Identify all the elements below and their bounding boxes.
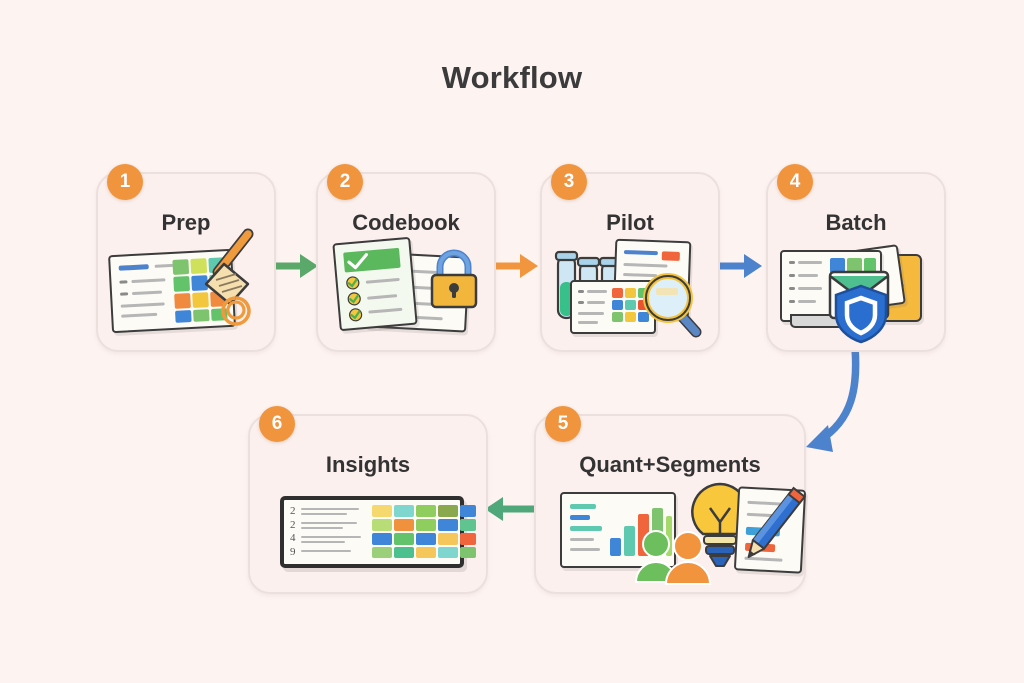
- step-badge-4: 4: [777, 164, 813, 200]
- step-badge-1: 1: [107, 164, 143, 200]
- step-badge-2: 2: [327, 164, 363, 200]
- workflow-diagram: Workflow Prep: [0, 0, 1024, 683]
- step-badge-5: 5: [545, 406, 581, 442]
- step-card-insights[interactable]: Insights 2 2 4 9: [248, 414, 488, 594]
- arrow-1-to-2: [272, 254, 318, 278]
- documents-shield-icon: [768, 174, 944, 350]
- step-badge-3: 3: [551, 164, 587, 200]
- insights-row-numbers: 2 2 4 9: [290, 505, 296, 559]
- chart-people-bulb-pencil-icon: [536, 416, 804, 592]
- arrow-3-to-4: [716, 254, 762, 278]
- spreadsheet-broom-icon: [98, 174, 274, 350]
- step-card-quant-segments[interactable]: Quant+Segments: [534, 414, 806, 594]
- checklist-lock-icon: [318, 174, 494, 350]
- step-badge-6: 6: [259, 406, 295, 442]
- arrow-5-to-6: [485, 497, 540, 521]
- report-grid-icon: 2 2 4 9: [250, 416, 486, 592]
- arrow-4-to-5: [806, 348, 856, 452]
- arrow-2-to-3: [492, 254, 538, 278]
- test-tubes-magnifier-icon: [542, 174, 718, 350]
